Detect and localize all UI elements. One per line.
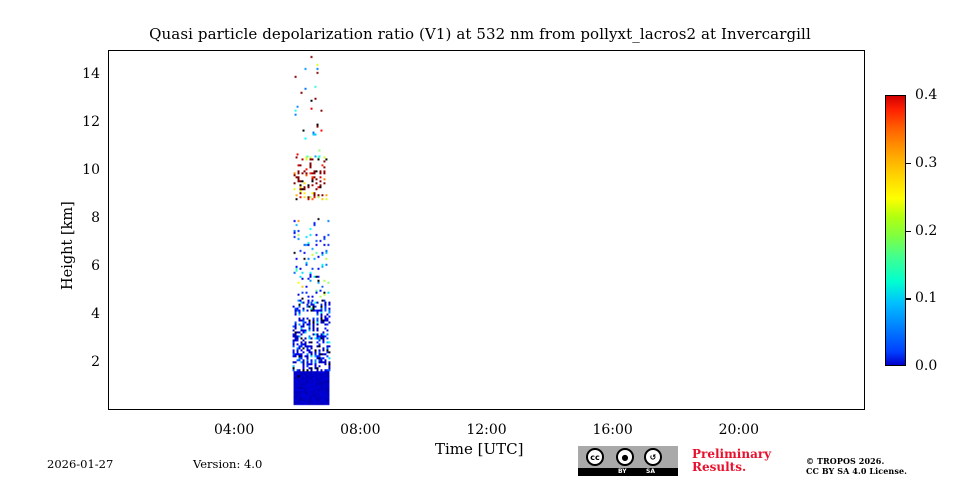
tick-mark: [582, 50, 584, 51]
tick-mark: [488, 50, 490, 51]
tick-mark: [108, 123, 109, 125]
tick-mark: [108, 267, 109, 269]
tick-mark: [108, 195, 109, 197]
x-tick-label: 08:00: [325, 422, 395, 438]
tick-mark: [424, 409, 426, 410]
tick-mark: [614, 50, 616, 51]
tick-mark: [864, 231, 865, 233]
tick-mark: [771, 409, 773, 410]
plot-area: [108, 50, 865, 410]
tick-mark: [267, 50, 269, 51]
tick-mark: [108, 363, 109, 365]
tick-mark: [677, 409, 679, 410]
tick-mark: [864, 339, 865, 341]
tick-mark: [235, 409, 237, 410]
tick-mark: [172, 50, 174, 51]
tick-mark: [771, 50, 773, 51]
colorbar-tick-mark: [906, 298, 911, 299]
tick-mark: [864, 87, 865, 89]
copyright-line-1: © TROPOS 2026.: [806, 456, 907, 466]
tick-mark: [864, 255, 865, 257]
tick-mark: [172, 409, 174, 410]
y-tick-label: 4: [60, 306, 100, 322]
tick-mark: [108, 375, 109, 377]
colorbar-tick-label: 0.3: [915, 155, 937, 171]
tick-mark: [361, 409, 363, 410]
tick-mark: [361, 50, 363, 51]
version-label: Version: 4.0: [193, 457, 262, 471]
tick-mark: [108, 255, 109, 257]
tick-mark: [864, 399, 865, 401]
tick-mark: [834, 409, 836, 410]
cc-icon-row: cc ● ↺: [578, 446, 678, 468]
tick-mark: [108, 327, 109, 329]
tick-mark: [108, 183, 109, 185]
tick-mark: [740, 50, 742, 51]
tick-mark: [803, 409, 805, 410]
tick-mark: [108, 387, 109, 389]
tick-mark: [141, 50, 143, 51]
tick-mark: [204, 409, 206, 410]
tick-mark: [108, 135, 109, 137]
colorbar-tick-label: 0.1: [915, 290, 937, 306]
tick-mark: [519, 50, 521, 51]
x-tick-label: 04:00: [199, 422, 269, 438]
colorbar-tick-label: 0.2: [915, 223, 937, 239]
tick-mark: [708, 409, 710, 410]
y-tick-label: 10: [60, 162, 100, 178]
tick-mark: [864, 219, 865, 221]
tick-mark: [864, 147, 865, 149]
tick-mark: [235, 50, 237, 51]
tick-mark: [645, 50, 647, 51]
tick-mark: [864, 291, 865, 293]
x-tick-label: 20:00: [704, 422, 774, 438]
tick-mark: [108, 279, 109, 281]
tick-mark: [108, 291, 109, 293]
tick-mark: [803, 50, 805, 51]
scatter-data-canvas: [109, 51, 864, 409]
cc-logo-icon: cc: [586, 448, 604, 466]
tick-mark: [645, 409, 647, 410]
tick-mark: [108, 207, 109, 209]
copyright-notice: © TROPOS 2026. CC BY SA 4.0 License.: [806, 456, 907, 476]
cc-sa-label: SA: [646, 468, 655, 476]
tick-mark: [456, 50, 458, 51]
colorbar: [885, 95, 906, 366]
tick-mark: [108, 231, 109, 233]
tick-mark: [864, 351, 865, 353]
tick-mark: [864, 327, 865, 329]
preliminary-results-notice: Preliminary Results.: [692, 448, 771, 474]
tick-mark: [864, 159, 865, 161]
x-tick-label: 12:00: [452, 422, 522, 438]
tick-mark: [864, 123, 865, 125]
tick-mark: [108, 303, 109, 305]
tick-mark: [330, 409, 332, 410]
tick-mark: [740, 409, 742, 410]
tick-mark: [864, 303, 865, 305]
lidar-quicklook-figure: Quasi particle depolarization ratio (V1)…: [0, 0, 960, 480]
colorbar-tick-label: 0.0: [915, 358, 937, 374]
date-stamp: 2026-01-27: [47, 457, 113, 471]
tick-mark: [298, 50, 300, 51]
tick-mark: [864, 195, 865, 197]
tick-mark: [108, 339, 109, 341]
creative-commons-badge: cc ● ↺ BY SA: [578, 446, 678, 476]
tick-mark: [393, 50, 395, 51]
cc-by-person-icon: ●: [616, 448, 634, 466]
tick-mark: [864, 207, 865, 209]
tick-mark: [864, 363, 865, 365]
copyright-line-2: CC BY SA 4.0 License.: [806, 466, 907, 476]
tick-mark: [298, 409, 300, 410]
tick-mark: [108, 243, 109, 245]
tick-mark: [864, 183, 865, 185]
x-tick-label: 16:00: [578, 422, 648, 438]
tick-mark: [864, 243, 865, 245]
tick-mark: [834, 50, 836, 51]
tick-mark: [677, 50, 679, 51]
tick-mark: [864, 387, 865, 389]
tick-mark: [108, 171, 109, 173]
colorbar-tick-mark: [906, 163, 911, 164]
cc-sa-share-alike-icon: ↺: [644, 448, 662, 466]
y-tick-label: 12: [60, 114, 100, 130]
tick-mark: [551, 50, 553, 51]
tick-mark: [864, 99, 865, 101]
tick-mark: [108, 111, 109, 113]
tick-mark: [864, 135, 865, 137]
cc-by-label: BY: [618, 468, 627, 476]
x-axis-title: Time [UTC]: [435, 440, 524, 458]
colorbar-tick-label: 0.4: [915, 87, 937, 103]
tick-mark: [456, 409, 458, 410]
colorbar-tick-mark: [906, 231, 911, 232]
tick-mark: [108, 315, 109, 317]
tick-mark: [864, 111, 865, 113]
tick-mark: [204, 50, 206, 51]
tick-mark: [864, 267, 865, 269]
tick-mark: [108, 75, 109, 77]
preliminary-line-2: Results.: [692, 461, 771, 474]
tick-mark: [864, 63, 865, 65]
tick-mark: [551, 409, 553, 410]
y-tick-label: 2: [60, 354, 100, 370]
tick-mark: [864, 75, 865, 77]
tick-mark: [864, 375, 865, 377]
tick-mark: [267, 409, 269, 410]
tick-mark: [424, 50, 426, 51]
tick-mark: [864, 279, 865, 281]
tick-mark: [108, 399, 109, 401]
y-axis-title: Height [km]: [60, 201, 76, 290]
tick-mark: [519, 409, 521, 410]
tick-mark: [108, 351, 109, 353]
tick-mark: [708, 50, 710, 51]
tick-mark: [108, 87, 109, 89]
tick-mark: [393, 409, 395, 410]
tick-mark: [582, 409, 584, 410]
tick-mark: [864, 315, 865, 317]
tick-mark: [330, 50, 332, 51]
tick-mark: [614, 409, 616, 410]
tick-mark: [108, 63, 109, 65]
tick-mark: [488, 409, 490, 410]
cc-label-bar: [578, 468, 678, 476]
tick-mark: [108, 219, 109, 221]
tick-mark: [108, 99, 109, 101]
tick-mark: [108, 147, 109, 149]
page-title: Quasi particle depolarization ratio (V1)…: [0, 25, 960, 43]
y-tick-label: 14: [60, 66, 100, 82]
tick-mark: [864, 171, 865, 173]
tick-mark: [108, 159, 109, 161]
tick-mark: [141, 409, 143, 410]
